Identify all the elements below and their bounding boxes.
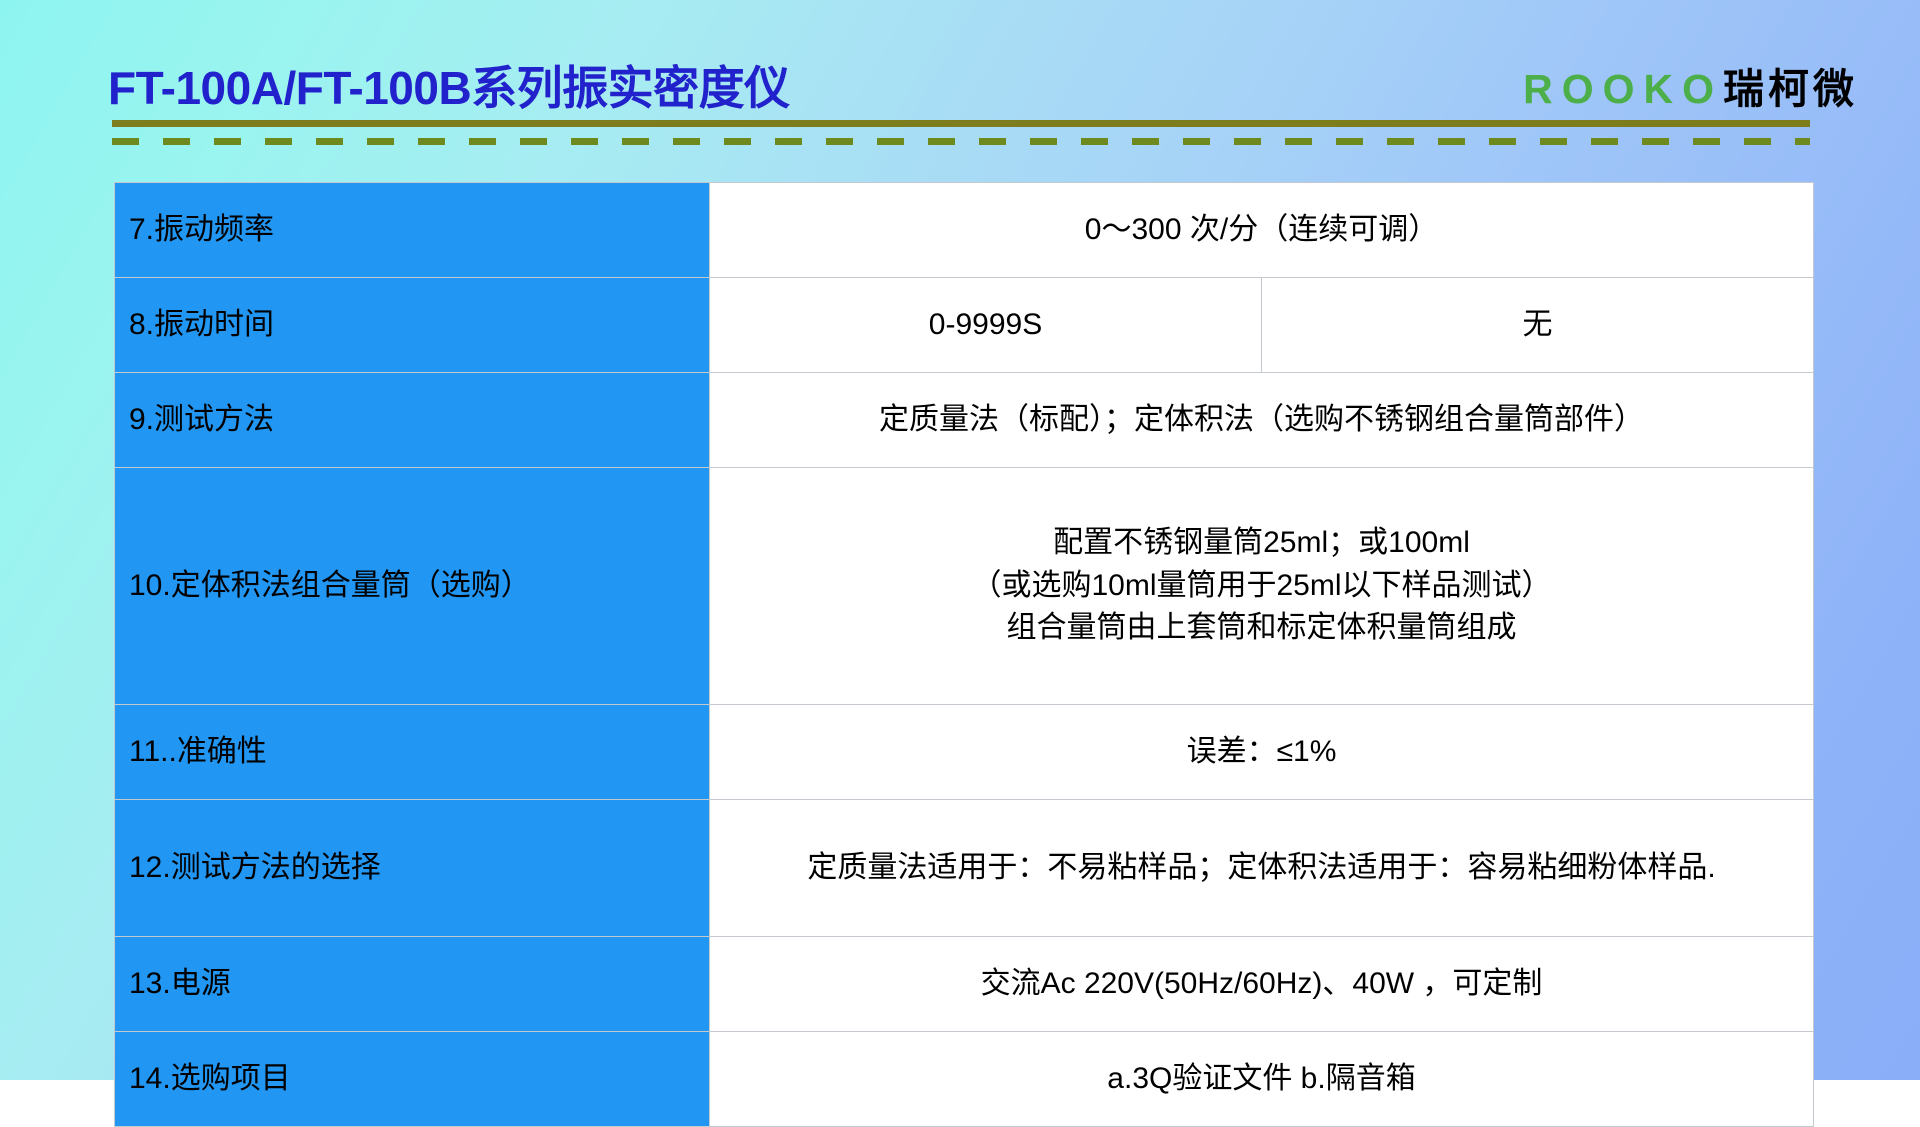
title-underline-solid <box>112 120 1810 127</box>
spec-value-cell: 配置不锈钢量筒25ml；或100ml （或选购10ml量筒用于25ml以下样品测… <box>710 468 1814 705</box>
table-row: 10.定体积法组合量筒（选购） 配置不锈钢量筒25ml；或100ml （或选购1… <box>115 468 1814 705</box>
spec-value-line: （或选购10ml量筒用于25ml以下样品测试） <box>726 565 1797 608</box>
brand-logo: ROOKO瑞柯微 <box>1523 55 1858 115</box>
spec-label-cell: 8.振动时间 <box>115 278 710 373</box>
spec-value-cell-secondary: 无 <box>1262 278 1814 373</box>
table-row: 12.测试方法的选择 定质量法适用于：不易粘样品；定体积法适用于：容易粘细粉体样… <box>115 800 1814 937</box>
table-row: 13.电源 交流Ac 220V(50Hz/60Hz)、40W ，可定制 <box>115 937 1814 1032</box>
spec-value-line: 组合量筒由上套筒和标定体积量筒组成 <box>726 607 1797 650</box>
spec-label-cell: 11..准确性 <box>115 705 710 800</box>
table-row: 7.振动频率 0〜300 次/分（连续可调） <box>115 183 1814 278</box>
spec-value-cell: 0〜300 次/分（连续可调） <box>710 183 1814 278</box>
spec-value-cell: 定质量法（标配）；定体积法（选购不锈钢组合量筒部件） <box>710 373 1814 468</box>
spec-label-cell: 12.测试方法的选择 <box>115 800 710 937</box>
spec-value-cell: 0-9999S <box>710 278 1262 373</box>
table-row: 9.测试方法 定质量法（标配）；定体积法（选购不锈钢组合量筒部件） <box>115 373 1814 468</box>
logo-cjk-text: 瑞柯微 <box>1723 66 1858 112</box>
title-underline-dashed <box>112 138 1810 145</box>
logo-latin-text: ROOKO <box>1523 66 1723 112</box>
spec-value-line: 配置不锈钢量筒25ml；或100ml <box>726 522 1797 565</box>
presentation-slide: FT-100A/FT-100B系列振实密度仪 ROOKO瑞柯微 7.振动频率 0… <box>0 0 1920 1080</box>
spec-label-cell: 10.定体积法组合量筒（选购） <box>115 468 710 705</box>
spec-label-cell: 9.测试方法 <box>115 373 710 468</box>
spec-value-cell: 交流Ac 220V(50Hz/60Hz)、40W ，可定制 <box>710 937 1814 1032</box>
spec-value-cell: a.3Q验证文件 b.隔音箱 <box>710 1032 1814 1127</box>
table-row: 11..准确性 误差：≤1% <box>115 705 1814 800</box>
page-title: FT-100A/FT-100B系列振实密度仪 <box>108 52 790 118</box>
spec-label-cell: 14.选购项目 <box>115 1032 710 1127</box>
table-row: 8.振动时间 0-9999S 无 <box>115 278 1814 373</box>
slide-header: FT-100A/FT-100B系列振实密度仪 ROOKO瑞柯微 <box>0 0 1920 170</box>
spec-label-cell: 7.振动频率 <box>115 183 710 278</box>
specification-table: 7.振动频率 0〜300 次/分（连续可调） 8.振动时间 0-9999S 无 … <box>114 182 1814 1127</box>
table-row: 14.选购项目 a.3Q验证文件 b.隔音箱 <box>115 1032 1814 1127</box>
spec-value-cell: 定质量法适用于：不易粘样品；定体积法适用于：容易粘细粉体样品. <box>710 800 1814 937</box>
spec-value-cell: 误差：≤1% <box>710 705 1814 800</box>
spec-label-cell: 13.电源 <box>115 937 710 1032</box>
